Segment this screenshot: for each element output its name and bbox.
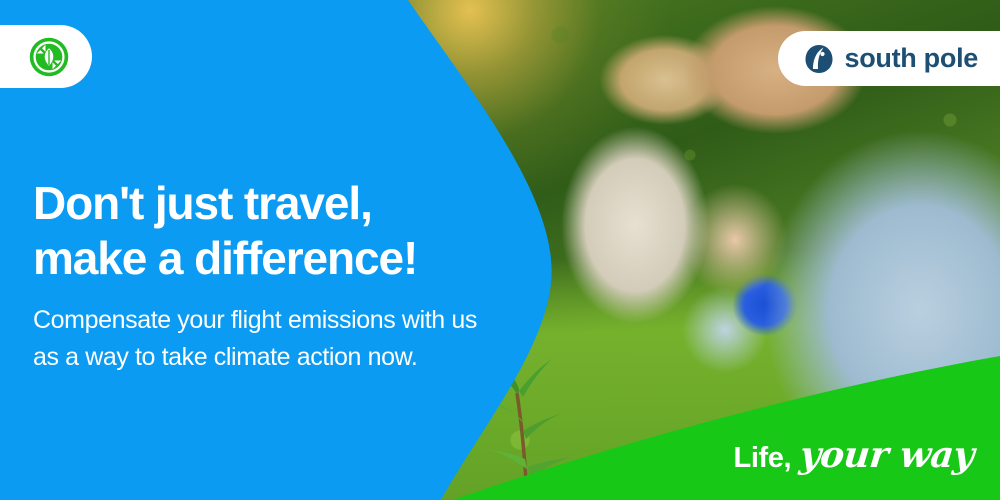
marketing-banner: south pole Don't just travel, make a dif… [0,0,1000,500]
south-pole-logo: south pole [778,31,1000,86]
south-pole-mark-icon [804,44,834,74]
copy-block: Don't just travel, make a difference! Co… [33,176,503,375]
logo-wordmark: south pole [845,45,979,72]
headline-line-1: Don't just travel, [33,176,503,231]
body-copy: Compensate your flight emissions with us… [33,302,493,375]
eco-leaf-recycle-icon [28,36,70,78]
tagline-script: your way [798,434,976,476]
tagline-prefix: Life, [734,442,792,475]
eco-badge-tab [0,25,92,88]
headline-line-2: make a difference! [33,231,503,286]
tagline: Life, your way [734,434,974,476]
